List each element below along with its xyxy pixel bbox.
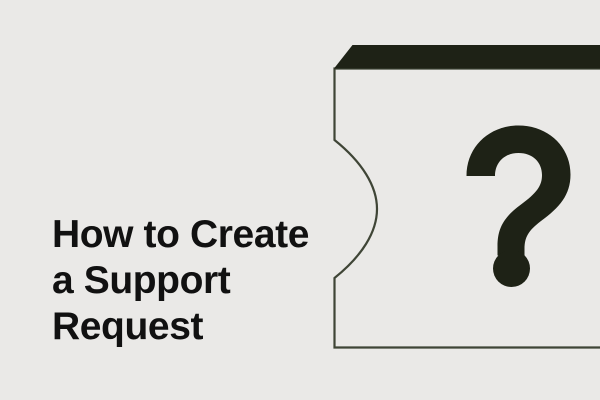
card-outline <box>335 69 600 348</box>
question-mark-dot <box>493 250 530 287</box>
card-header-bar <box>334 45 600 69</box>
screenshot-canvas: How to Create a Support Request <box>0 0 600 400</box>
question-mark-icon <box>467 126 571 288</box>
page-title: How to Create a Support Request <box>52 212 322 350</box>
